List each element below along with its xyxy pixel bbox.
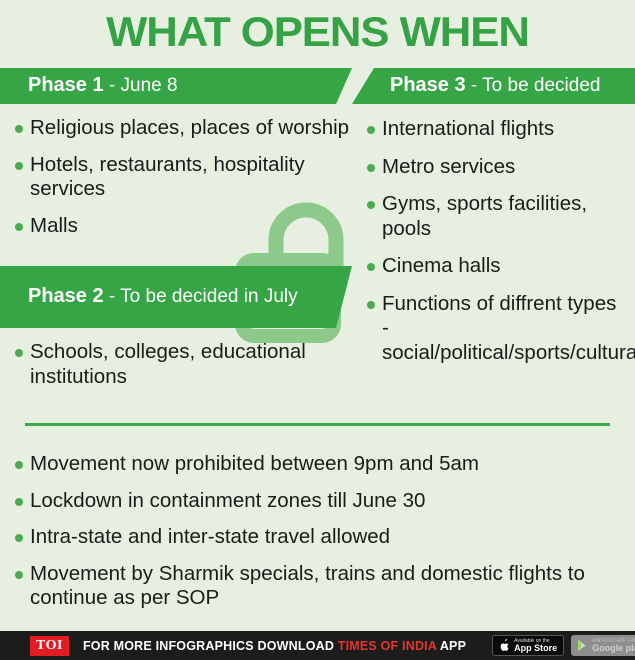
phase3-banner-text: Phase 3 - To be decided xyxy=(390,74,600,97)
list-item: Lockdown in containment zones till June … xyxy=(14,489,624,514)
phase1-separator: - xyxy=(104,75,121,96)
phase2-separator: - xyxy=(104,286,121,307)
phase3-label: Phase 3 xyxy=(390,74,466,96)
list-item: Functions of diffrent types - social/pol… xyxy=(366,292,624,366)
phase3-detail: To be decided xyxy=(482,75,600,96)
google-play-badge-lines: ANDROID APP ON Google play xyxy=(592,639,635,653)
infographic-root: WHAT OPENS WHEN Phase 1 - June 8 Religio… xyxy=(0,0,635,660)
left-column: Phase 1 - June 8 Religious places, place… xyxy=(0,68,352,389)
list-item: Intra-state and inter-state travel allow… xyxy=(14,525,624,550)
footer-bar: TOI FOR MORE INFOGRAPHICS DOWNLOAD TIMES… xyxy=(0,631,635,660)
footer-text-part2: APP xyxy=(437,639,467,653)
phase2-list: Schools, colleges, educational instituti… xyxy=(14,340,344,389)
phase1-list: Religious places, places of worship Hote… xyxy=(14,116,362,238)
section-divider xyxy=(25,423,610,426)
footer-text-brand: TIMES OF INDIA xyxy=(338,639,437,653)
app-store-badge-big: App Store xyxy=(514,644,557,653)
phase2-banner: Phase 2 - To be decided in July xyxy=(0,266,352,328)
list-item: Movement now prohibited between 9pm and … xyxy=(14,452,624,477)
list-item: Schools, colleges, educational instituti… xyxy=(14,340,344,389)
general-rules-list: Movement now prohibited between 9pm and … xyxy=(14,440,624,611)
google-play-badge-big: Google play xyxy=(592,644,635,653)
google-play-badge[interactable]: ANDROID APP ON Google play xyxy=(571,635,635,656)
phase3-list: International flights Metro services Gym… xyxy=(366,117,624,365)
list-item: Malls xyxy=(14,214,362,239)
phase2-detail: To be decided in July xyxy=(120,286,297,307)
app-store-badge-lines: Available on the App Store xyxy=(514,639,557,653)
list-item: Hotels, restaurants, hospitality service… xyxy=(14,153,362,202)
apple-icon xyxy=(499,639,510,652)
right-column: Phase 3 - To be decided International fl… xyxy=(352,68,635,365)
phase1-banner: Phase 1 - June 8 xyxy=(0,68,352,104)
list-item: Metro services xyxy=(366,155,624,180)
phase1-label: Phase 1 xyxy=(28,74,104,96)
app-store-badge[interactable]: Available on the App Store xyxy=(492,635,564,656)
phase1-banner-text: Phase 1 - June 8 xyxy=(28,74,178,97)
footer-text-part1: FOR MORE INFOGRAPHICS DOWNLOAD xyxy=(83,639,338,653)
list-item: Cinema halls xyxy=(366,254,624,279)
list-item: Movement by Sharmik specials, trains and… xyxy=(14,562,624,611)
store-badges: Available on the App Store ANDROID APP O… xyxy=(492,635,635,656)
phase3-separator: - xyxy=(466,75,483,96)
toi-logo: TOI xyxy=(30,636,69,656)
list-item: Gyms, sports facilities, pools xyxy=(366,192,624,241)
phase2-banner-text: Phase 2 - To be decided in July xyxy=(28,285,298,308)
page-title: WHAT OPENS WHEN xyxy=(0,8,635,56)
list-item: Religious places, places of worship xyxy=(14,116,362,141)
play-triangle-icon xyxy=(577,639,588,652)
phase2-label: Phase 2 xyxy=(28,285,104,307)
phase1-detail: June 8 xyxy=(121,75,178,96)
footer-promo-text: FOR MORE INFOGRAPHICS DOWNLOAD TIMES OF … xyxy=(83,639,466,653)
phase3-banner: Phase 3 - To be decided xyxy=(352,68,635,104)
list-item: International flights xyxy=(366,117,624,142)
